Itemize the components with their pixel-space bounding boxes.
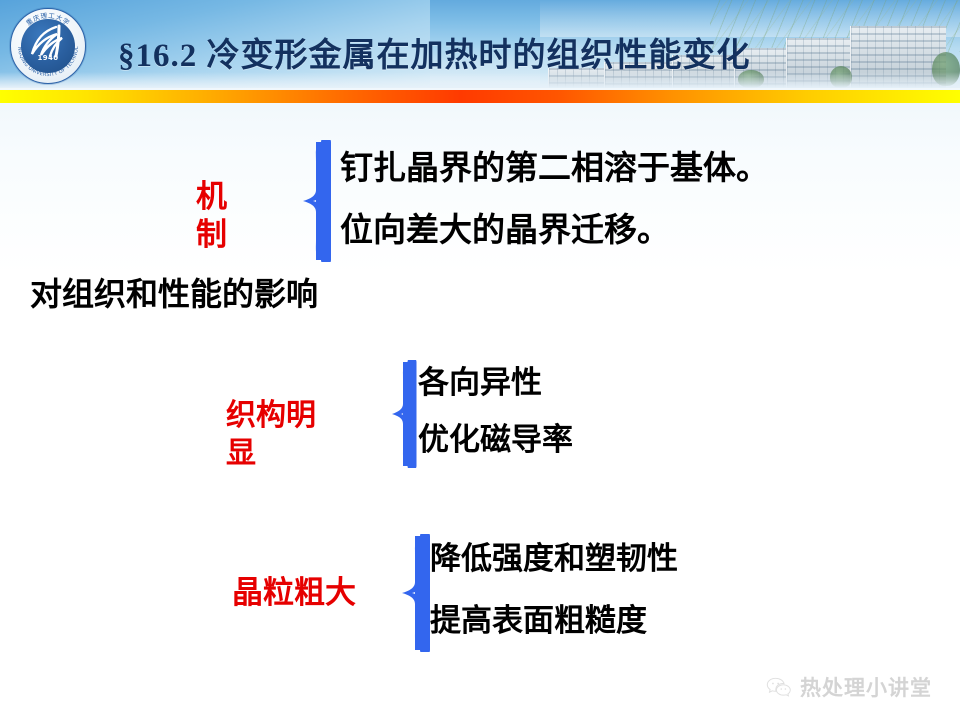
group-label: 织构明 显 bbox=[226, 397, 356, 473]
list-item: 优化磁导率 bbox=[418, 411, 573, 468]
list-item: 各向异性 bbox=[418, 354, 573, 411]
slide-title: §16.2 冷变形金属在加热时的组织性能变化 bbox=[118, 30, 918, 82]
blue-brace-icon bbox=[300, 140, 334, 262]
watermark-text: 热处理小讲堂 bbox=[800, 672, 932, 702]
blue-brace-icon bbox=[400, 534, 432, 652]
content-group-coarse-grain: 晶粒粗大 降低强度和塑韧性 提高表面粗糙度 bbox=[0, 518, 960, 668]
section-heading-impact: 对组织和性能的影响 bbox=[30, 272, 318, 316]
group-label: 机 制 bbox=[196, 178, 236, 254]
blue-brace-icon bbox=[390, 360, 418, 468]
list-item: 位向差大的晶界迁移。 bbox=[340, 200, 769, 262]
logo-founding-year: 1940 bbox=[8, 54, 88, 62]
content-group-texture: 织构明 显 各向异性 优化磁导率 bbox=[0, 340, 960, 490]
wechat-icon bbox=[766, 676, 792, 698]
university-logo: 重庆理工大学 CHONGQING UNIVERSITY OF TECHNOLOG… bbox=[8, 8, 88, 84]
group-label: 晶粒粗大 bbox=[232, 574, 402, 612]
slide-canvas: 重庆理工大学 CHONGQING UNIVERSITY OF TECHNOLOG… bbox=[0, 0, 960, 720]
group-items: 钉扎晶界的第二相溶于基体。 位向差大的晶界迁移。 bbox=[340, 138, 769, 262]
group-items: 各向异性 优化磁导率 bbox=[418, 354, 573, 468]
list-item: 提高表面粗糙度 bbox=[430, 590, 678, 652]
wechat-watermark: 热处理小讲堂 bbox=[766, 672, 932, 702]
header-gradient-divider bbox=[0, 90, 960, 103]
list-item: 降低强度和塑韧性 bbox=[430, 528, 678, 590]
content-group-mechanism: 机 制 钉扎晶界的第二相溶于基体。 位向差大的晶界迁移。 bbox=[0, 118, 960, 268]
group-items: 降低强度和塑韧性 提高表面粗糙度 bbox=[430, 528, 678, 652]
list-item: 钉扎晶界的第二相溶于基体。 bbox=[340, 138, 769, 200]
